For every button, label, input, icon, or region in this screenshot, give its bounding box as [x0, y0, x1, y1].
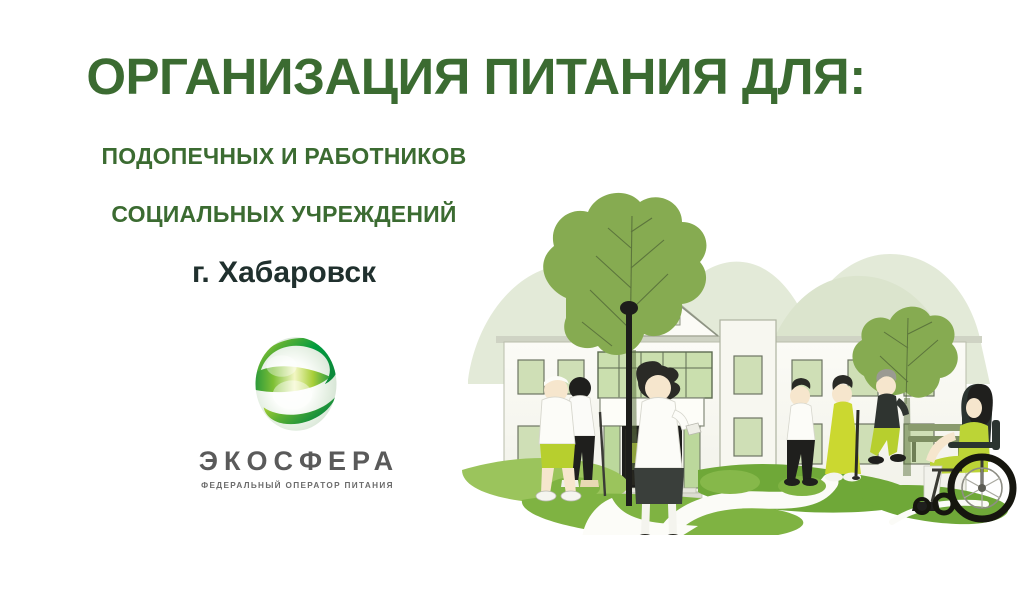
logo-wordmark: ЭКОСФЕРА	[186, 446, 406, 476]
subtitle-line-1: ПОДОПЕЧНЫХ И РАБОТНИКОВ	[0, 142, 568, 170]
logo-tagline: ФЕДЕРАЛЬНЫЙ ОПЕРАТОР ПИТАНИЯ	[186, 479, 406, 493]
page-title: ОРГАНИЗАЦИЯ ПИТАНИЯ ДЛЯ:	[0, 48, 952, 106]
ecosphere-globe-icon	[242, 330, 350, 438]
brand-logo: ЭКОСФЕРА ФЕДЕРАЛЬНЫЙ ОПЕРАТОР ПИТАНИЯ	[186, 330, 406, 493]
social-institution-courtyard-illustration	[462, 170, 1024, 535]
presentation-slide: ОРГАНИЗАЦИЯ ПИТАНИЯ ДЛЯ: ПОДОПЕЧНЫХ И РА…	[0, 0, 1024, 600]
